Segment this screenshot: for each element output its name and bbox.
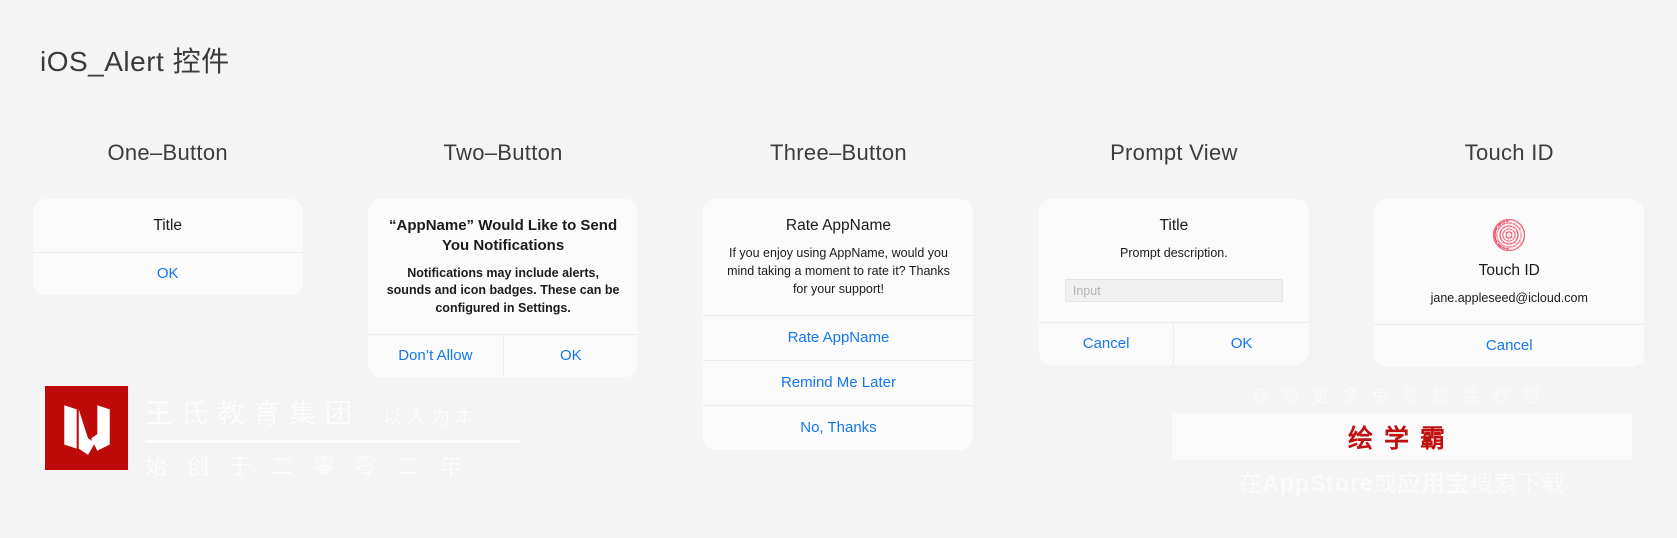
alert-body: Touch ID jane.appleseed@icloud.com [1374,199,1644,324]
alert-button-no-thanks[interactable]: No, Thanks [703,406,973,450]
alert-body: Title [33,199,303,252]
column-header-one-button: One–Button [107,140,227,166]
alert-button-remind-me-later[interactable]: Remind Me Later [703,361,973,405]
alert-button-ok[interactable]: OK [33,253,303,295]
alert-message: jane.appleseed@icloud.com [1390,290,1628,308]
watermark-bottom-alt: 应用宝 [1398,470,1470,496]
column-two-button: Two–Button “AppName” Would Like to Send … [335,140,670,377]
alert-message: Prompt description. [1055,245,1293,263]
alert-button-row: Cancel OK [1039,323,1309,365]
column-one-button: One–Button Title OK [0,140,335,295]
watermark-bottom-mid: 或 [1374,470,1398,496]
fingerprint-icon [1492,218,1526,252]
alert-button-ok[interactable]: OK [504,335,639,377]
alert-three-button: Rate AppName If you enjoy using AppName,… [703,199,973,450]
watermark-founded: 始创于二零零二年 [145,449,520,481]
alert-button-cancel[interactable]: Cancel [1374,325,1644,367]
alert-button-row: OK [33,253,303,295]
page-title: iOS_Alert 控件 [40,40,230,80]
alert-two-button: “AppName” Would Like to Send You Notific… [368,199,638,377]
alert-message: Notifications may include alerts, sounds… [384,265,622,318]
alert-title: Title [49,216,287,236]
alert-button-ok[interactable]: OK [1174,323,1309,365]
alert-one-button: Title OK [33,199,303,295]
column-header-prompt-view: Prompt View [1110,140,1238,166]
alert-body: Title Prompt description. Input [1039,199,1309,322]
watermark-bottom-prefix: 在 [1238,470,1262,496]
watermark-right-bottom: 在AppStore或应用宝搜索下载 [1172,464,1632,498]
alert-button-row: Cancel [1374,325,1644,367]
alert-title: Rate AppName [719,216,957,236]
alert-body: “AppName” Would Like to Send You Notific… [368,199,638,334]
alert-button-dont-allow[interactable]: Don’t Allow [368,335,503,377]
column-header-touch-id: Touch ID [1465,140,1554,166]
alert-button-rate-appname[interactable]: Rate AppName [703,316,973,360]
prompt-input-placeholder: Input [1073,284,1101,298]
column-three-button: Three–Button Rate AppName If you enjoy u… [671,140,1006,450]
alert-body: Rate AppName If you enjoy using AppName,… [703,199,973,315]
alert-title: Touch ID [1390,261,1628,281]
column-header-three-button: Three–Button [770,140,907,166]
watermark-bottom-suffix: 搜索下载 [1470,470,1566,496]
alert-title: Title [1055,216,1293,236]
alert-prompt-view: Title Prompt description. Input Cancel O… [1039,199,1309,365]
column-touch-id: Touch ID [1342,140,1677,367]
prompt-input[interactable]: Input [1065,279,1283,302]
alert-button-row: Don’t Allow OK [368,335,638,377]
alert-button-cancel[interactable]: Cancel [1039,323,1174,365]
column-prompt-view: Prompt View Title Prompt description. In… [1006,140,1341,365]
alert-showcase: One–Button Title OK Two–Button “AppName”… [0,140,1677,450]
column-header-two-button: Two–Button [443,140,562,166]
alert-message: If you enjoy using AppName, would you mi… [719,245,957,298]
alert-touch-id: Touch ID jane.appleseed@icloud.com Cance… [1374,199,1644,367]
alert-title: “AppName” Would Like to Send You Notific… [384,216,622,256]
watermark-bottom-store: AppStore [1262,470,1374,496]
app-root: iOS_Alert 控件 One–Button Title OK Two–But… [0,0,1677,538]
